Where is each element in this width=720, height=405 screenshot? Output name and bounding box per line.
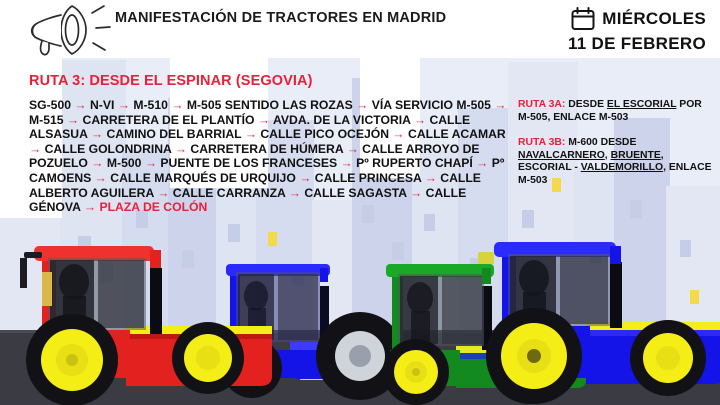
- variant-text: DESDE: [565, 99, 607, 110]
- route-step: M-500: [107, 156, 142, 170]
- variant-label: RUTA 3B:: [518, 137, 565, 148]
- tractor-red: [0, 234, 286, 405]
- date-block: MIÉRCOLES 11 DE FEBRERO: [568, 6, 706, 54]
- route-steps-paragraph: SG-500 → N-VI → M-510 → M-505 SENTIDO LA…: [29, 98, 507, 215]
- route-step: M-510: [133, 98, 168, 112]
- megaphone-icon: [18, 2, 118, 62]
- route-step: CALLE ACAMAR: [408, 127, 506, 141]
- route-step: Pº RUPERTO CHAPÍ: [356, 156, 473, 170]
- variant-place: BRUENTE: [611, 150, 661, 161]
- route-step: CARRETERA DE EL PLANTÍO: [83, 113, 255, 127]
- arrow-icon: →: [80, 200, 99, 214]
- arrow-icon: →: [285, 186, 304, 200]
- route-step: CAMINO DEL BARRIAL: [106, 127, 241, 141]
- arrow-icon: →: [491, 98, 507, 112]
- arrow-icon: →: [353, 98, 372, 112]
- arrow-icon: →: [421, 171, 440, 185]
- arrow-icon: →: [114, 98, 133, 112]
- arrow-icon: →: [154, 186, 173, 200]
- arrow-icon: →: [168, 98, 187, 112]
- route-destination: PLAZA DE COLÓN: [99, 200, 207, 214]
- variant-place: VALDEMORILLO: [581, 162, 663, 173]
- arrow-icon: →: [64, 113, 83, 127]
- arrow-icon: →: [389, 127, 408, 141]
- arrow-icon: →: [241, 127, 260, 141]
- route-step: PUENTE DE LOS FRANCESES: [160, 156, 337, 170]
- route-step: CALLE GOLONDRINA: [45, 142, 172, 156]
- route-step: M-505 SENTIDO LAS ROZAS: [187, 98, 353, 112]
- arrow-icon: →: [407, 186, 426, 200]
- arrow-icon: →: [71, 98, 90, 112]
- variant-label: RUTA 3A:: [518, 99, 565, 110]
- route-step: CALLE SAGASTA: [304, 186, 406, 200]
- arrow-icon: →: [141, 156, 160, 170]
- arrow-icon: →: [29, 142, 45, 156]
- variant-text: M-600 DESDE: [565, 137, 636, 148]
- arrow-icon: →: [88, 156, 107, 170]
- arrow-icon: →: [473, 156, 492, 170]
- arrow-icon: →: [171, 142, 190, 156]
- route-step: VÍA SERVICIO M-505: [372, 98, 491, 112]
- arrow-icon: →: [337, 156, 356, 170]
- route-title: RUTA 3: DESDE EL ESPINAR (SEGOVIA): [29, 73, 313, 89]
- route-step: SG-500: [29, 98, 71, 112]
- arrow-icon: →: [296, 171, 315, 185]
- route-step: CALLE PRINCESA: [315, 171, 422, 185]
- variant-place: EL ESCORIAL: [607, 99, 676, 110]
- date-weekday: MIÉRCOLES: [602, 9, 706, 29]
- arrow-icon: →: [91, 171, 110, 185]
- route-step: CARRETERA DE HÚMERA: [190, 142, 343, 156]
- tractor-blue-front: [450, 228, 720, 405]
- route-variant-3b: RUTA 3B: M-600 DESDE NAVALCARNERO, BRUEN…: [518, 137, 714, 187]
- route-step: CALLE MARQUÉS DE URQUIJO: [110, 171, 296, 185]
- route-step: AVDA. DE LA VICTORIA: [273, 113, 410, 127]
- arrow-icon: →: [87, 127, 106, 141]
- calendar-icon: [570, 6, 596, 32]
- variant-place: NAVALCARNERO: [518, 150, 605, 161]
- route-step: CALLE PICO OCEJÓN: [260, 127, 389, 141]
- route-variant-3a: RUTA 3A: DESDE EL ESCORIAL POR M-505, EN…: [518, 99, 714, 124]
- date-day: 11 DE FEBRERO: [568, 34, 706, 54]
- route-step: CALLE CARRANZA: [173, 186, 286, 200]
- page-title: MANIFESTACIÓN DE TRACTORES EN MADRID: [115, 10, 446, 26]
- route-step: N-VI: [90, 98, 114, 112]
- arrow-icon: →: [410, 113, 429, 127]
- route-step: M-515: [29, 113, 64, 127]
- arrow-icon: →: [255, 113, 274, 127]
- infographic-root: MANIFESTACIÓN DE TRACTORES EN MADRID MIÉ…: [0, 0, 720, 405]
- arrow-icon: →: [343, 142, 362, 156]
